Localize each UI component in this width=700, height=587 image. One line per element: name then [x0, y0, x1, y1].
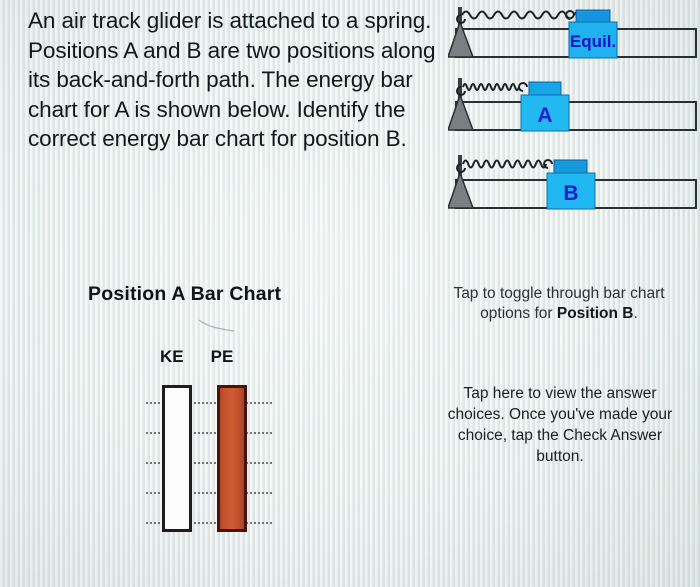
bar-pe[interactable]	[217, 385, 247, 532]
air-track-diagram-position-a: A	[448, 70, 698, 138]
bar-pe-fill	[220, 388, 244, 529]
answer-choices-hint-text[interactable]: Tap here to view the answer choices. Onc…	[440, 383, 680, 467]
position-a-bar-chart	[146, 378, 272, 532]
bar-ke[interactable]	[162, 385, 192, 532]
equilibrium-track-svg: Equil.	[448, 2, 698, 70]
spring-hook-right	[519, 83, 527, 91]
category-label-ke: KE	[160, 347, 184, 367]
pencil-stroke-artifact	[198, 318, 238, 332]
toggle-hint-position-b: Position B	[557, 305, 634, 322]
category-label-pe: PE	[211, 347, 234, 367]
glider-label: Equil.	[570, 32, 616, 51]
spring-coil	[463, 161, 546, 168]
glider-cap	[529, 82, 561, 96]
position-a-track-svg: A	[448, 70, 698, 138]
support-stand	[448, 173, 473, 208]
air-track-diagram-position-b: B	[448, 147, 698, 215]
glider-cap	[576, 10, 610, 23]
spring-coil	[462, 12, 590, 19]
support-stand	[448, 22, 473, 57]
air-track-diagram-equilibrium: Equil.	[448, 2, 698, 70]
glider-label: B	[563, 182, 578, 205]
glider-cap	[554, 160, 587, 174]
toggle-hint-line2-prefix: options for	[480, 305, 557, 322]
toggle-hint-text[interactable]: Tap to toggle through bar chart options …	[425, 284, 693, 324]
glider-label: A	[537, 104, 552, 127]
problem-statement: An air track glider is attached to a spr…	[28, 6, 438, 154]
bar-chart-panel-title: Position A Bar Chart	[88, 283, 281, 306]
toggle-hint-line1: Tap to toggle through bar chart	[453, 285, 664, 302]
spring-coil	[463, 84, 519, 90]
position-b-track-svg: B	[448, 147, 698, 217]
track-rail	[456, 102, 696, 130]
toggle-hint-line2-suffix: .	[634, 305, 638, 322]
support-stand	[448, 95, 473, 130]
bar-chart-category-labels: KE PE	[160, 347, 260, 367]
